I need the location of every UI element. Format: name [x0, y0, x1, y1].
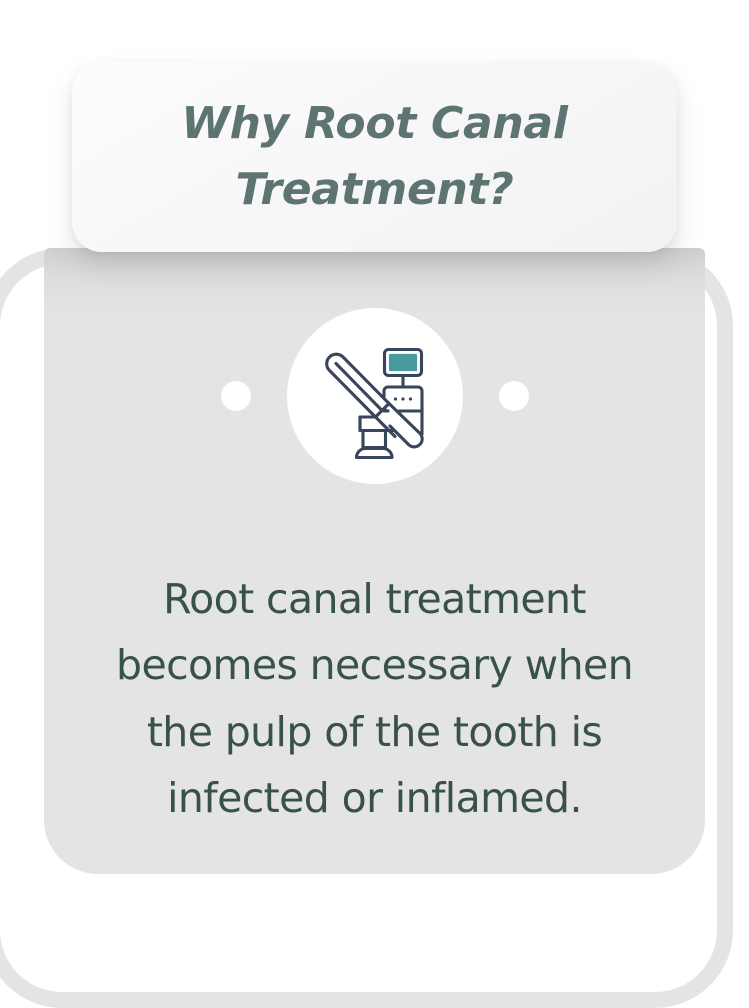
card-title: Why Root Canal Treatment? [165, 91, 585, 223]
card-body-text: Root canal treatment becomes necessary w… [44, 566, 705, 832]
icon-badge [287, 308, 463, 484]
title-card: Why Root Canal Treatment? [72, 62, 677, 252]
icon-row [44, 308, 705, 484]
dental-chair-icon [312, 333, 438, 459]
right-dot-icon [499, 381, 529, 411]
left-dot-icon [221, 381, 251, 411]
card-stage: Root canal treatment becomes necessary w… [0, 0, 749, 930]
